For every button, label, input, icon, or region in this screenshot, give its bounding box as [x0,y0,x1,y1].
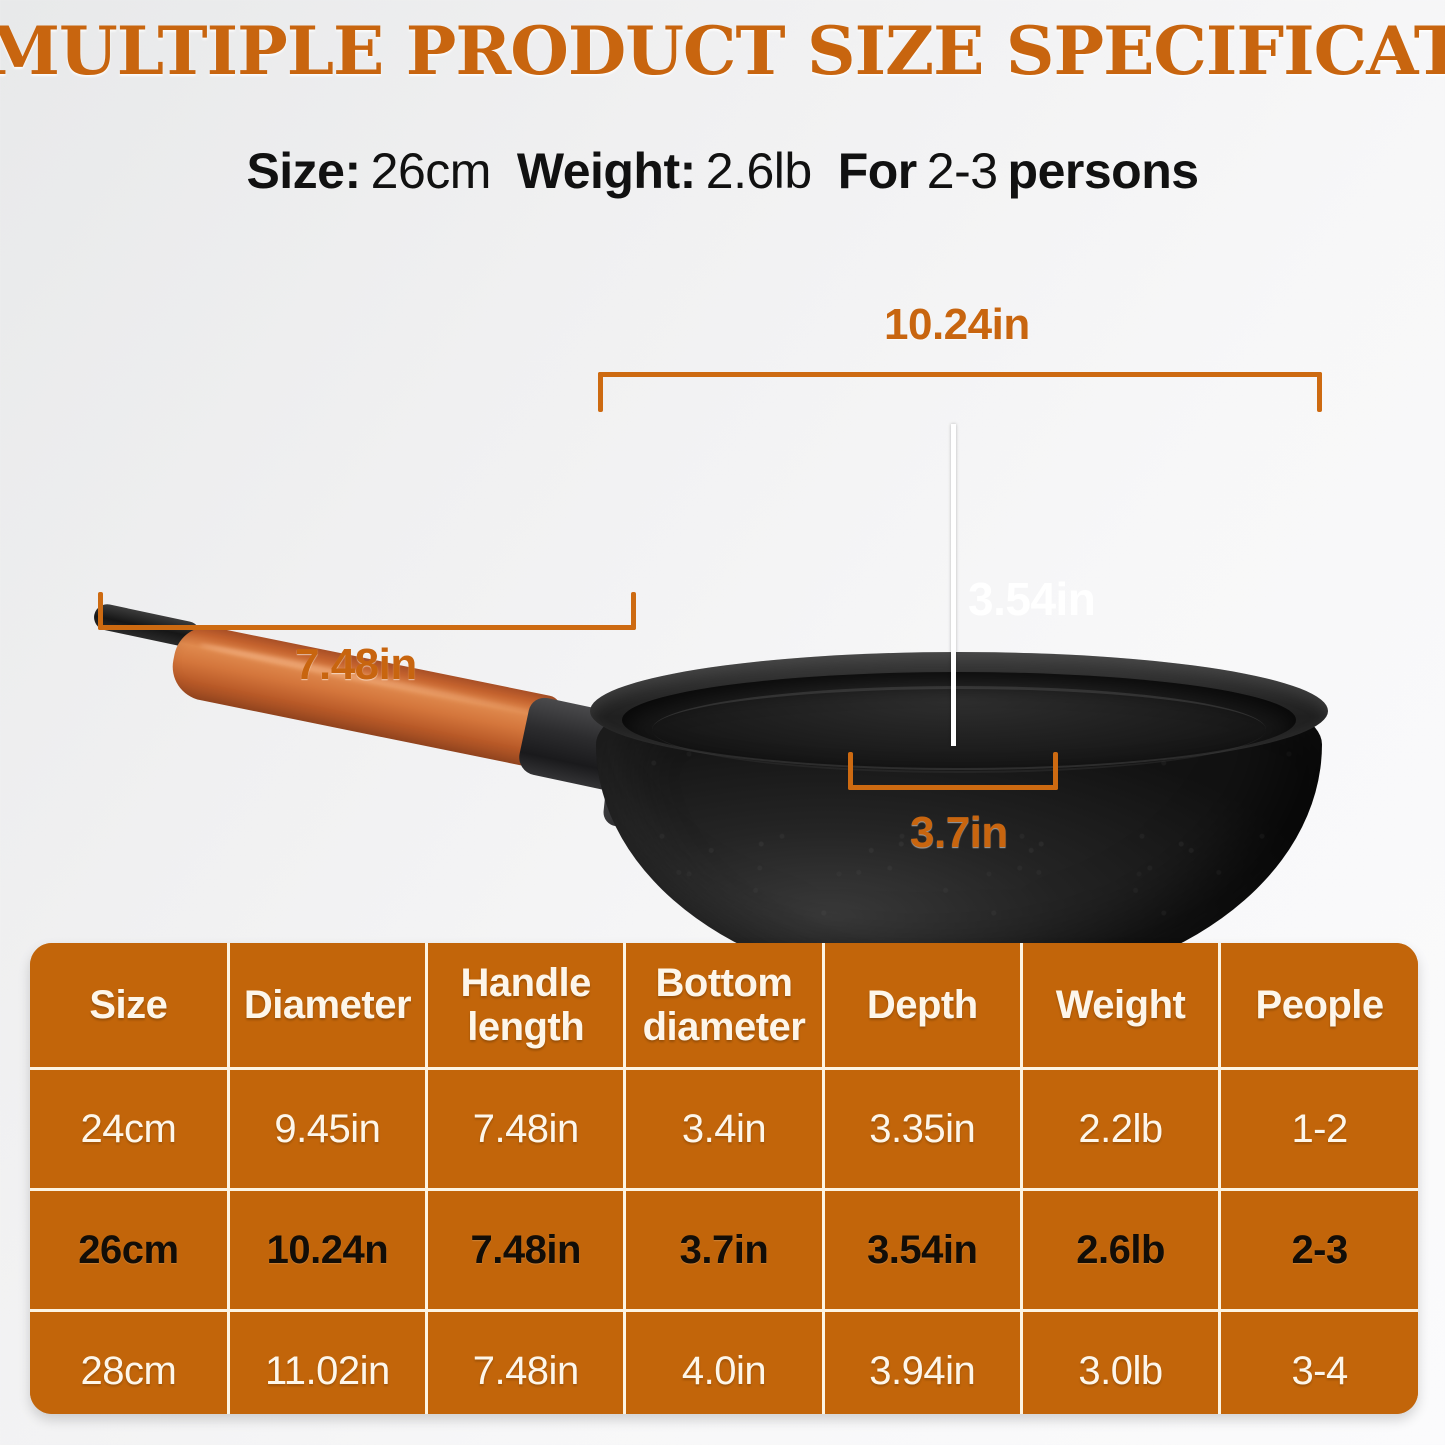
weight-label: Weight: [517,143,696,199]
column-header-bottom-diameter: Bottom diameter [625,943,823,1069]
people-suffix-label: persons [1008,143,1199,199]
callout-top-diameter-bracket [598,372,1322,412]
cell-diameter: 10.24n [228,1190,426,1311]
column-header-size: Size [30,943,228,1069]
cell-depth: 3.35in [823,1069,1021,1190]
table-row: 26cm 10.24n 7.48in 3.7in 3.54in 2.6lb 2-… [30,1190,1418,1311]
cell-weight: 3.0lb [1021,1311,1219,1415]
cell-handle-length: 7.48in [427,1069,625,1190]
specifications-table: Size Diameter Handle length Bottom diame… [30,943,1418,1414]
column-header-handle-length: Handle length [427,943,625,1069]
cell-diameter: 9.45in [228,1069,426,1190]
callout-depth-line [951,424,956,746]
column-header-people: People [1220,943,1418,1069]
cell-weight: 2.2lb [1021,1069,1219,1190]
table-row: 28cm 11.02in 7.48in 4.0in 3.94in 3.0lb 3… [30,1311,1418,1415]
cell-diameter: 11.02in [228,1311,426,1415]
product-diagram [0,240,1445,920]
size-value: 26cm [371,143,491,199]
cell-people: 3-4 [1220,1311,1418,1415]
callout-handle-length-label: 7.48in [295,640,417,690]
cell-bottom-diameter: 3.4in [625,1069,823,1190]
table-header-row: Size Diameter Handle length Bottom diame… [30,943,1418,1069]
callout-handle-length-bracket [98,592,636,630]
people-value: 2-3 [927,143,998,199]
cell-bottom-diameter: 4.0in [625,1311,823,1415]
cell-depth: 3.54in [823,1190,1021,1311]
size-label: Size: [246,143,360,199]
column-header-diameter: Diameter [228,943,426,1069]
cell-weight: 2.6lb [1021,1190,1219,1311]
cell-size: 24cm [30,1069,228,1190]
page-title: MULTIPLE PRODUCT SIZE SPECIFICATIONS [0,14,1445,88]
callout-bottom-diameter-bracket [848,752,1058,790]
callout-top-diameter-label: 10.24in [884,300,1030,350]
cell-people: 2-3 [1220,1190,1418,1311]
cell-size: 28cm [30,1311,228,1415]
cell-people: 1-2 [1220,1069,1418,1190]
callout-bottom-diameter-label: 3.7in [910,808,1008,858]
table-row: 24cm 9.45in 7.48in 3.4in 3.35in 2.2lb 1-… [30,1069,1418,1190]
subtitle-summary: Size:26cmWeight:2.6lbFor2-3persons [0,140,1445,202]
column-header-depth: Depth [823,943,1021,1069]
product-spec-page: MULTIPLE PRODUCT SIZE SPECIFICATIONS Siz… [0,0,1445,1445]
callout-depth-label: 3.54in [968,572,1095,626]
cell-bottom-diameter: 3.7in [625,1190,823,1311]
cell-handle-length: 7.48in [427,1190,625,1311]
cell-handle-length: 7.48in [427,1311,625,1415]
people-prefix-label: For [838,143,917,199]
column-header-weight: Weight [1021,943,1219,1069]
cell-size: 26cm [30,1190,228,1311]
cell-depth: 3.94in [823,1311,1021,1415]
weight-value: 2.6lb [706,143,812,199]
spec-table-grid: Size Diameter Handle length Bottom diame… [30,943,1418,1414]
